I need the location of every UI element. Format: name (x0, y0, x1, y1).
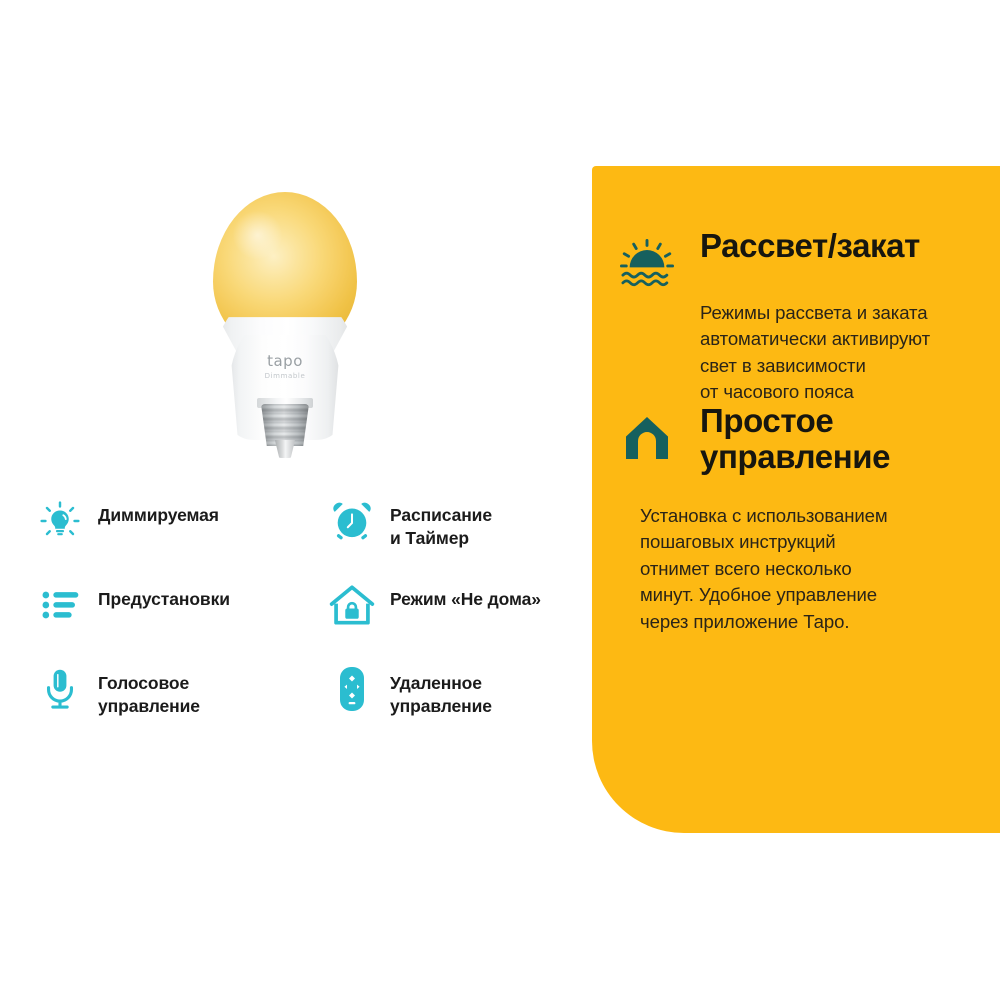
microphone-icon (34, 663, 86, 715)
promo-body: Режимы рассвета и заката автоматически а… (700, 300, 982, 406)
feature-label: Диммируемая (98, 495, 219, 527)
feature-item-remote-control: Удаленное управление (326, 663, 596, 747)
feature-label: Предустановки (98, 579, 230, 611)
feature-item-schedule-timer: Расписание и Таймер (326, 495, 596, 579)
feature-item-presets: Предустановки (34, 579, 304, 663)
feature-label: Режим «Не дома» (390, 579, 541, 611)
bulb-base-tip (273, 440, 297, 458)
feature-label: Удаленное управление (390, 663, 492, 719)
smart-bulb-product-image: tapo Dimmable (205, 192, 365, 464)
promo-block-sunrise-sunset: Рассвет/закат Режимы рассвета и заката а… (618, 236, 982, 406)
promo-title: Рассвет/закат (700, 228, 920, 264)
bulb-variant-label: Dimmable (205, 372, 365, 380)
feature-label: Расписание и Таймер (390, 495, 492, 551)
home-arch-icon (618, 409, 676, 467)
bulb-brand-label: tapo (205, 352, 365, 370)
dimmable-bulb-icon (34, 495, 86, 547)
promo-block-easy-control: Простое управление Установка с использов… (618, 409, 982, 635)
promo-panel: Рассвет/закат Режимы рассвета и заката а… (592, 166, 1000, 833)
sunrise-sunset-icon (618, 236, 676, 294)
feature-column-left: Диммируемая Предустановки (34, 495, 304, 747)
feature-item-voice-control: Голосовое управление (34, 663, 304, 747)
alarm-clock-icon (326, 495, 378, 547)
remote-control-icon (326, 663, 378, 715)
feature-item-dimmable: Диммируемая (34, 495, 304, 579)
feature-column-right: Расписание и Таймер Режим «Не дома» (326, 495, 596, 747)
promo-body: Установка с использованием пошаговых инс… (640, 503, 982, 635)
bulb-screw-base (261, 404, 309, 446)
product-image-area: tapo Dimmable (0, 0, 560, 480)
promo-title: Простое управление (700, 403, 890, 476)
feature-label: Голосовое управление (98, 663, 200, 719)
presets-list-icon (34, 579, 86, 631)
feature-item-away-mode: Режим «Не дома» (326, 579, 596, 663)
house-lock-icon (326, 579, 378, 631)
